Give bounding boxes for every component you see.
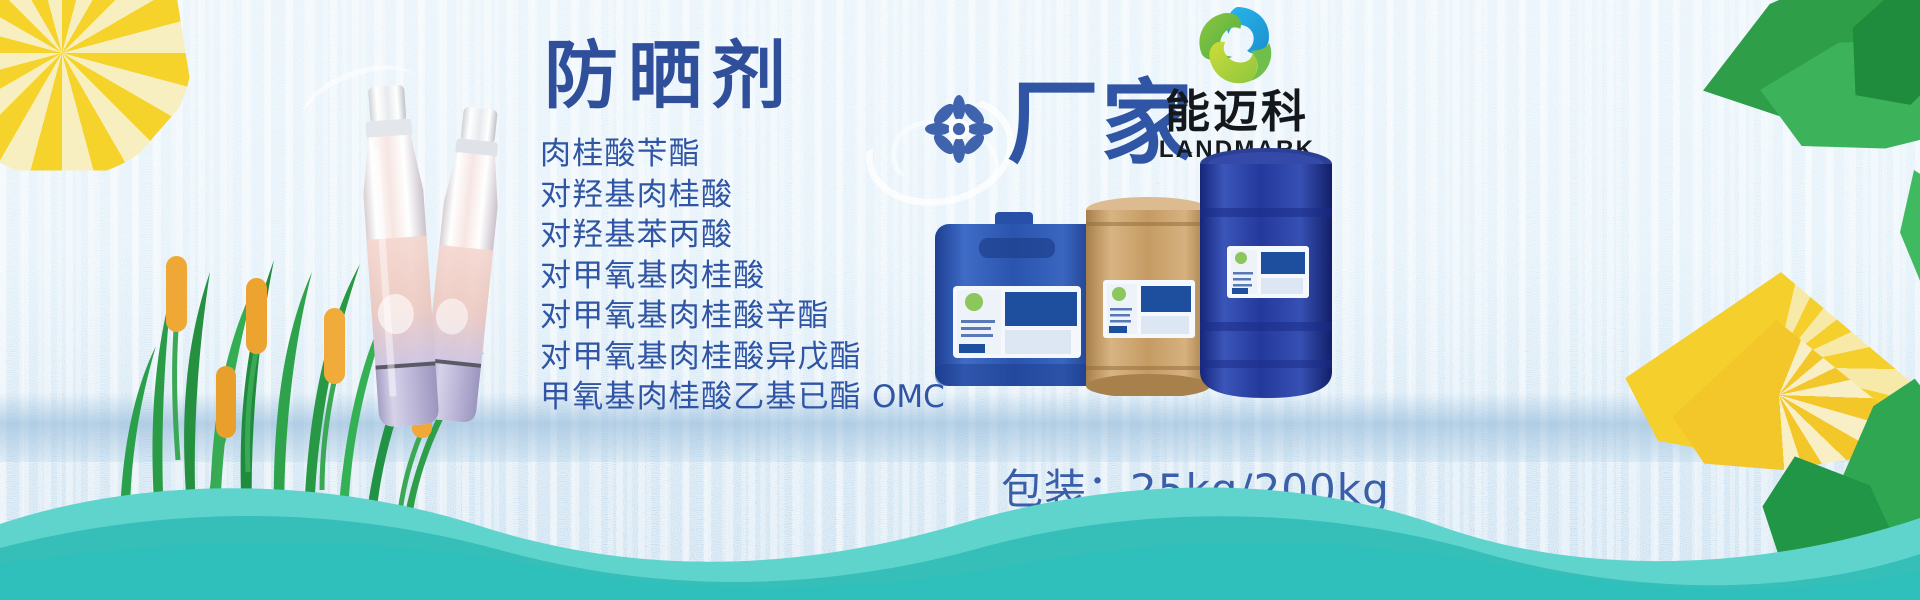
container-jerrycan-25kg	[927, 212, 1107, 392]
wave-layer-front	[0, 534, 1920, 600]
product-name: 对甲氧基肉桂酸	[540, 258, 765, 294]
product-name: 对羟基肉桂酸	[540, 177, 733, 213]
product-name: 对羟基苯丙酸	[540, 217, 733, 253]
container-barrel-200kg	[1191, 146, 1341, 406]
product-name: 对甲氧基肉桂酸异戊酯	[540, 339, 862, 375]
company-logo: 能迈科 LANDMARK	[1117, 2, 1357, 164]
recycle-swirl-logo-icon	[1195, 2, 1279, 86]
product-name: 对甲氧基肉桂酸辛酯	[540, 298, 830, 334]
flower-icon	[925, 95, 993, 163]
logo-company-name-cn: 能迈科	[1117, 88, 1357, 135]
product-name: 甲氧基肉桂酸乙基已酯	[540, 379, 862, 415]
beach-umbrella-top-left-icon	[0, 0, 192, 178]
sunscreen-product-banner: 防晒剂 肉桂酸苄酯 对羟基肉桂酸 对羟基苯丙酸 对甲氧基肉桂酸 对甲氧基肉桂酸辛…	[0, 0, 1920, 600]
product-name: 肉桂酸苄酯	[540, 136, 701, 172]
